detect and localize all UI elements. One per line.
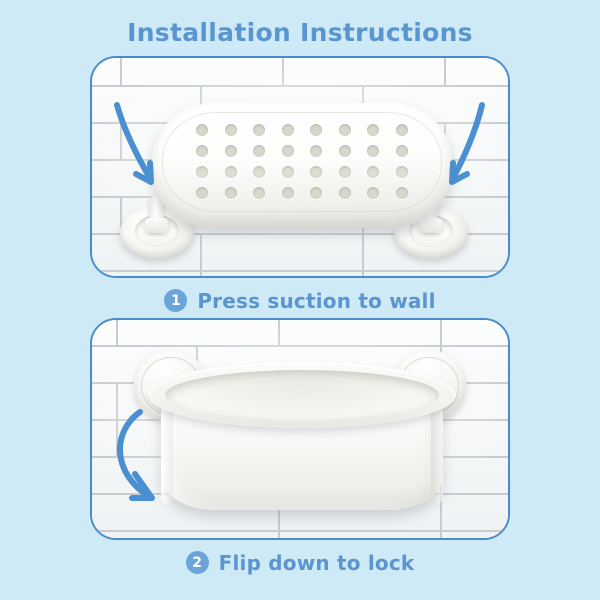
perforation-hole — [396, 145, 408, 157]
page-title: Installation Instructions — [0, 0, 600, 47]
perforation-hole — [396, 166, 408, 178]
perforation-hole — [253, 124, 265, 136]
perforation-hole — [396, 124, 408, 136]
tile-row — [92, 318, 508, 347]
tile-seam — [200, 235, 202, 278]
perforation-hole — [339, 124, 351, 136]
perforation-hole — [339, 145, 351, 157]
perforation-hole — [253, 187, 265, 199]
step-1-illustration — [90, 56, 510, 278]
step-1-label: Press suction to wall — [197, 291, 435, 311]
installation-instructions-page: { "page": { "title": "Installation Instr… — [0, 0, 600, 600]
perforation-hole — [367, 187, 379, 199]
perforation-hole — [282, 166, 294, 178]
perforation-hole — [253, 145, 265, 157]
perforation-hole — [396, 187, 408, 199]
arrow-down-icon — [110, 100, 180, 195]
perforation-hole — [282, 145, 294, 157]
perforation-hole — [310, 124, 322, 136]
perforation-hole — [339, 166, 351, 178]
perforation-hole — [196, 187, 208, 199]
perforation-hole — [253, 166, 265, 178]
perforation-hole — [367, 124, 379, 136]
caddy-basket-right-edge — [431, 408, 443, 504]
perforation-hole — [367, 145, 379, 157]
curved-arrow-icon — [100, 404, 210, 519]
perforation-hole — [310, 166, 322, 178]
perforation-hole — [225, 145, 237, 157]
number-one-badge-icon: 1 — [164, 289, 187, 312]
arrow-down-icon — [422, 100, 492, 195]
tile-seam — [444, 56, 446, 87]
perforation-hole — [225, 124, 237, 136]
tile-seam — [120, 56, 122, 87]
perforation-hole — [282, 124, 294, 136]
tile-seam — [282, 56, 284, 87]
step-2-illustration — [90, 318, 510, 540]
tile-seam — [116, 318, 118, 347]
perforation-hole — [282, 187, 294, 199]
perforation-hole — [196, 166, 208, 178]
tile-seam — [440, 318, 442, 347]
perforation-hole — [225, 187, 237, 199]
perforation-hole — [310, 187, 322, 199]
perforation-hole — [196, 124, 208, 136]
tile-seam — [278, 318, 280, 347]
step-2-caption: 2 Flip down to lock — [0, 551, 600, 574]
caddy-perforations — [188, 119, 416, 203]
step-1-caption: 1 Press suction to wall — [0, 289, 600, 312]
perforation-hole — [225, 166, 237, 178]
perforation-hole — [310, 145, 322, 157]
step-2-label: Flip down to lock — [219, 553, 415, 573]
perforation-hole — [367, 166, 379, 178]
shower-caddy-flat — [152, 103, 452, 228]
perforation-hole — [339, 187, 351, 199]
perforation-hole — [196, 145, 208, 157]
tile-seam — [362, 235, 364, 278]
number-two-badge-icon: 2 — [186, 551, 209, 574]
